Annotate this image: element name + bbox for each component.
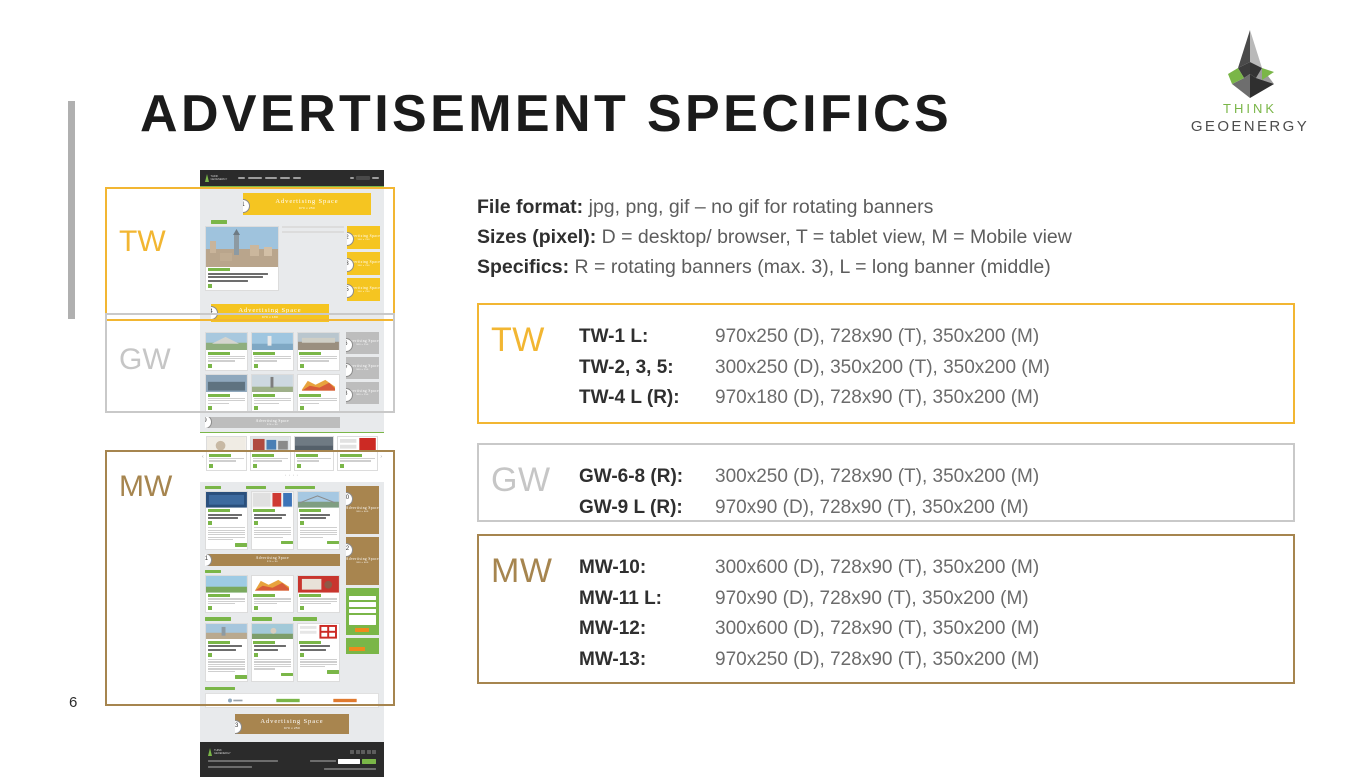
mockup-nav-item[interactable] xyxy=(265,177,277,180)
page-title: ADVERTISEMENT SPECIFICS xyxy=(140,84,952,144)
mockup-gw-grid-row xyxy=(205,332,340,371)
mockup-ad-13[interactable]: 13 Advertising Space 970 x 250 xyxy=(235,714,349,734)
mockup-card-tag xyxy=(208,509,230,512)
mockup-ad-1[interactable]: 1 Advertising Space 970 x 250 xyxy=(243,193,371,215)
mockup-article-thumbnail xyxy=(338,437,377,453)
mockup-signup-name-field[interactable] xyxy=(349,596,376,601)
mockup-ad-11[interactable]: 11 Advertising Space 970 x 90 xyxy=(205,554,340,566)
mockup-article-thumbnail xyxy=(283,227,343,228)
mockup-card-tag xyxy=(208,394,230,397)
mockup-article-card[interactable] xyxy=(251,623,294,682)
mockup-card-line xyxy=(300,603,331,604)
mockup-card-headline xyxy=(208,280,248,282)
mockup-article-thumbnail xyxy=(298,576,339,593)
spec-code: MW-10: xyxy=(579,553,715,584)
mockup-article-thumbnail xyxy=(295,437,334,453)
mockup-tag-tw: TW xyxy=(119,227,166,257)
mockup-article-thumbnail xyxy=(252,492,293,508)
mockup-page: THINK GEOENERGY 1 xyxy=(200,170,384,777)
mockup-card-more[interactable] xyxy=(327,670,339,674)
mockup-signup-heading xyxy=(349,591,376,594)
mockup-card-line xyxy=(300,527,337,528)
mockup-card-badge xyxy=(300,606,304,610)
mockup-card-headline xyxy=(254,517,282,519)
mockup-card-headline xyxy=(300,645,330,647)
mockup-article-card[interactable] xyxy=(205,226,279,291)
spec-box-mw: MW MW-10: 300x600 (D), 728x90 (T), 350x2… xyxy=(477,534,1295,684)
mockup-card-tag xyxy=(299,352,321,355)
mockup-card-line xyxy=(254,398,291,399)
mockup-card-line xyxy=(208,360,235,361)
mockup-nav-item[interactable] xyxy=(293,177,301,180)
youtube-icon[interactable] xyxy=(367,750,371,754)
mockup-card-line xyxy=(208,527,245,528)
mockup-card-line xyxy=(254,527,291,528)
mockup-ad-9[interactable]: 9 Advertising Space 970 x 90 xyxy=(205,417,340,428)
rss-icon[interactable] xyxy=(372,750,376,754)
mockup-ad-size: 300 x 250 xyxy=(356,369,368,371)
mockup-footer-copyright xyxy=(324,768,376,770)
mockup-article-card[interactable] xyxy=(251,491,294,550)
mockup-card-line xyxy=(254,664,291,665)
mockup-card-headline xyxy=(254,514,286,516)
mockup-signup-submit-button[interactable] xyxy=(355,628,369,632)
website-mockup: TW GW MW THINK GEOENERGY xyxy=(105,170,405,755)
mockup-mw-chips xyxy=(205,486,340,490)
mockup-article-card[interactable] xyxy=(205,332,248,371)
spec-row: TW-4 L (R): 970x180 (D), 728x90 (T), 350… xyxy=(579,383,1293,414)
mockup-card-line xyxy=(209,460,236,461)
mockup-card-tag xyxy=(299,641,321,644)
mockup-article-thumbnail xyxy=(298,624,339,640)
spec-code: TW-1 L: xyxy=(579,322,715,353)
spec-code: MW-11 L: xyxy=(579,584,715,615)
mockup-ad-label: Advertising Space xyxy=(260,718,323,725)
mockup-category-chip xyxy=(205,687,235,691)
spec-code: MW-13: xyxy=(579,645,715,676)
legend-label-file-format: File format: xyxy=(477,196,583,218)
mockup-card-line xyxy=(340,458,375,459)
mockup-ad-size: 300 x 250 xyxy=(357,291,369,293)
mockup-footer-logo-text: THINK GEOENERGY xyxy=(214,749,238,755)
mockup-marker-1: 1 xyxy=(243,199,250,213)
mockup-article-thumbnail xyxy=(252,375,293,393)
mockup-zone-tw: 1 Advertising Space 970 x 250 xyxy=(200,188,384,328)
mockup-zone-gw: 9 Advertising Space 970 x 90 6 Advertisi… xyxy=(200,328,384,432)
mockup-card-line xyxy=(300,356,337,357)
mockup-category-chip xyxy=(285,486,315,490)
mockup-category-chip xyxy=(252,617,272,621)
mockup-card-line xyxy=(208,664,245,665)
carousel-prev-icon[interactable]: ‹ xyxy=(202,454,204,460)
mockup-mw-grid-row xyxy=(205,491,340,550)
mockup-article-card[interactable] xyxy=(205,575,248,613)
mockup-nav-logo-text: THINK GEOENERGY xyxy=(211,175,232,181)
mockup-ad-10[interactable]: 10 Advertising Space 300 x 600 xyxy=(346,486,379,534)
mockup-ad-3[interactable]: 3 Advertising Space 300 x 250 xyxy=(347,252,380,275)
spec-rows-mw: MW-10: 300x600 (D), 728x90 (T), 350x200 … xyxy=(579,536,1293,675)
mockup-signup-company-field[interactable] xyxy=(349,609,376,614)
spec-dims: 970x180 (D), 728x90 (T), 350x200 (M) xyxy=(715,383,1039,414)
mockup-card-line xyxy=(300,598,337,599)
mockup-article-thumbnail xyxy=(207,437,246,453)
logo-geoenergy-text: GEOENERGY xyxy=(1180,118,1320,135)
mockup-card-line xyxy=(300,398,337,399)
mockup-gw-grid: 9 Advertising Space 970 x 90 xyxy=(205,332,340,428)
mockup-gw-row: 9 Advertising Space 970 x 90 6 Advertisi… xyxy=(205,332,379,428)
mockup-card-more[interactable] xyxy=(235,675,247,679)
mockup-ad-size: 300 x 250 xyxy=(357,265,369,267)
mockup-category-chip xyxy=(205,486,221,490)
mockup-marker-12: 12 xyxy=(346,543,353,557)
spec-dims: 970x90 (D), 728x90 (T), 350x200 (M) xyxy=(715,584,1029,615)
spec-rows-tw: TW-1 L: 970x250 (D), 728x90 (T), 350x200… xyxy=(579,305,1293,414)
mockup-card-headline xyxy=(254,649,278,651)
spec-code: MW-12: xyxy=(579,614,715,645)
spec-row: MW-11 L: 970x90 (D), 728x90 (T), 350x200… xyxy=(579,584,1293,615)
mockup-footer-arrow-icon xyxy=(208,748,212,756)
mockup-card-headline xyxy=(208,273,268,275)
mockup-article-card[interactable] xyxy=(251,575,294,613)
mockup-card-tag xyxy=(296,454,318,457)
mockup-footer-top-row: THINK GEOENERGY xyxy=(208,747,376,756)
mockup-card-line xyxy=(208,601,245,602)
spec-box-tw: TW TW-1 L: 970x250 (D), 728x90 (T), 350x… xyxy=(477,303,1295,424)
mockup-card-line xyxy=(254,603,277,604)
mockup-article-thumbnail xyxy=(206,492,247,508)
linkedin-icon[interactable] xyxy=(361,750,365,754)
mockup-footer-logo: THINK GEOENERGY xyxy=(208,747,238,756)
mockup-partner-logo xyxy=(274,698,302,703)
mockup-card-tag xyxy=(252,454,274,457)
spec-code: GW-6-8 (R): xyxy=(579,462,715,493)
mockup-ad-8[interactable]: 8 Advertising Space 300 x 250 xyxy=(346,382,379,404)
mockup-article-card[interactable] xyxy=(297,623,340,682)
mockup-ad-size: 300 x 600 xyxy=(356,562,368,564)
mockup-card-stack xyxy=(282,226,344,233)
mockup-card-tag xyxy=(253,509,275,512)
mockup-tw-sidebar: 2 Advertising Space 300 x 250 3 Advertis… xyxy=(347,226,380,301)
mockup-article-card[interactable] xyxy=(297,374,340,413)
mockup-article-thumbnail xyxy=(206,227,278,267)
mockup-carousel-card[interactable] xyxy=(250,436,291,471)
mockup-card-headline xyxy=(208,276,263,278)
mockup-navbar: THINK GEOENERGY xyxy=(200,170,384,186)
mockup-category-chip xyxy=(211,220,227,224)
mockup-card-more[interactable] xyxy=(281,541,293,545)
mockup-card-badge xyxy=(208,653,212,657)
mockup-category-chip xyxy=(293,617,317,621)
mockup-subscribe-button[interactable] xyxy=(362,759,376,764)
mockup-article-thumbnail xyxy=(252,624,293,640)
mockup-card-line xyxy=(253,458,288,459)
mockup-carousel: ‹ › xyxy=(200,432,384,482)
mockup-card-line xyxy=(254,358,291,359)
mockup-card-line xyxy=(300,601,337,602)
mockup-marker-4: 4 xyxy=(211,306,218,320)
mockup-article-card[interactable] xyxy=(205,491,248,550)
mockup-nav-item[interactable] xyxy=(280,177,290,180)
legend-value-file-format: jpg, png, gif – no gif for rotating bann… xyxy=(589,196,934,218)
mockup-nav-lang[interactable] xyxy=(350,177,354,180)
mockup-ad-label: Advertising Space xyxy=(256,419,289,423)
mockup-ad-6[interactable]: 6 Advertising Space 300 x 250 xyxy=(346,332,379,354)
mockup-card-badge xyxy=(254,606,258,610)
mockup-card-tag xyxy=(209,454,231,457)
carousel-next-icon[interactable]: › xyxy=(380,454,382,460)
mockup-tag-mw: MW xyxy=(119,472,172,502)
mockup-ad-4[interactable]: 4 Advertising Space 970 x 180 xyxy=(211,304,329,322)
mockup-card-line xyxy=(208,398,245,399)
mockup-partners-strip xyxy=(205,693,379,708)
mockup-ad-size: 970 x 90 xyxy=(267,424,278,426)
mockup-ad-label: Advertising Space xyxy=(275,198,338,205)
mockup-card-badge xyxy=(208,406,212,410)
mockup-ad-label: Advertising Space xyxy=(238,307,301,314)
mockup-article-card[interactable] xyxy=(282,231,344,233)
mockup-card-more[interactable] xyxy=(327,541,339,545)
mockup-card-badge xyxy=(297,464,301,468)
mockup-card-tag xyxy=(299,509,321,512)
mockup-card-more[interactable] xyxy=(235,543,247,547)
mockup-card-tag xyxy=(253,641,275,644)
mockup-article-card[interactable] xyxy=(205,374,248,413)
mockup-marker-9: 9 xyxy=(205,417,212,428)
mockup-article-thumbnail xyxy=(206,624,247,640)
mockup-mw-grid-row xyxy=(205,575,340,613)
mockup-promo-button[interactable] xyxy=(349,647,365,651)
spec-dims: 300x600 (D), 728x90 (T), 350x200 (M) xyxy=(715,553,1039,584)
mockup-footer-link-row[interactable] xyxy=(208,766,252,768)
mockup-card-badge xyxy=(208,284,212,288)
mockup-card-line xyxy=(208,598,245,599)
mockup-article-card[interactable] xyxy=(282,226,344,228)
mockup-nav-arrow-icon xyxy=(205,174,209,182)
legend-line-file-format: File format: jpg, png, gif – no gif for … xyxy=(477,192,1307,222)
mockup-card-line xyxy=(254,666,291,667)
mockup-card-tag xyxy=(253,394,275,397)
mockup-footer-bottom-row xyxy=(208,756,376,770)
mockup-card-line xyxy=(300,537,323,538)
mockup-card-line xyxy=(254,598,291,599)
mockup-card-line xyxy=(300,400,337,401)
mockup-card-badge xyxy=(253,464,257,468)
mockup-card-tag xyxy=(208,352,230,355)
mockup-card-line xyxy=(254,360,277,361)
mockup-carousel-card[interactable] xyxy=(337,436,378,471)
mockup-ad-label: Advertising Space xyxy=(346,506,379,510)
spec-dims: 970x250 (D), 728x90 (T), 350x200 (M) xyxy=(715,645,1039,676)
spec-dims: 300x600 (D), 728x90 (T), 350x200 (M) xyxy=(715,614,1039,645)
mockup-subscribe-email-input[interactable] xyxy=(338,759,360,764)
mockup-card-headline xyxy=(208,517,238,519)
mockup-card-badge xyxy=(208,364,212,368)
mockup-card-headline xyxy=(300,517,326,519)
mockup-promo-block[interactable] xyxy=(346,638,379,653)
mockup-card-line xyxy=(300,666,325,667)
spec-tag-gw: GW xyxy=(479,445,579,497)
mockup-card-headline xyxy=(208,649,236,651)
thinkgeoenergy-arrow-mark xyxy=(1210,28,1290,100)
legend-label-specifics: Specifics: xyxy=(477,256,569,278)
mockup-article-card[interactable] xyxy=(297,332,340,371)
spec-row: GW-9 L (R): 970x90 (D), 728x90 (T), 350x… xyxy=(579,493,1293,524)
mockup-ad-7[interactable]: 7 Advertising Space 300 x 250 xyxy=(346,357,379,379)
left-accent-rule xyxy=(68,101,75,319)
mockup-mw-grid-row xyxy=(205,623,340,682)
mockup-card-line xyxy=(208,661,245,662)
spec-row: GW-6-8 (R): 300x250 (D), 728x90 (T), 350… xyxy=(579,462,1293,493)
legend-value-sizes: D = desktop/ browser, T = tablet view, M… xyxy=(602,226,1072,248)
mockup-card-headline xyxy=(208,514,242,516)
mockup-card-tag xyxy=(208,641,230,644)
mockup-chart-thumbnail xyxy=(298,375,339,393)
mockup-footer: THINK GEOENERGY xyxy=(200,742,384,777)
spec-code: TW-4 L (R): xyxy=(579,383,715,414)
mockup-card-badge xyxy=(209,464,213,468)
mockup-card-line xyxy=(208,530,245,531)
mockup-signup-message-field[interactable] xyxy=(349,615,376,625)
mockup-card-badge xyxy=(340,464,344,468)
spec-row: TW-2, 3, 5: 300x250 (D), 350x200 (T), 35… xyxy=(579,353,1293,384)
spec-dims: 970x90 (D), 728x90 (T), 350x200 (M) xyxy=(715,493,1029,524)
mockup-article-card[interactable] xyxy=(251,332,294,371)
mockup-card-tag xyxy=(299,394,321,397)
mockup-ad-2[interactable]: 2 Advertising Space 300 x 250 xyxy=(347,226,380,249)
mockup-card-line xyxy=(254,537,283,538)
spec-rows-gw: GW-6-8 (R): 300x250 (D), 728x90 (T), 350… xyxy=(579,445,1293,523)
mockup-card-headline xyxy=(254,645,286,647)
spec-row: MW-10: 300x600 (D), 728x90 (T), 350x200 … xyxy=(579,553,1293,584)
mockup-ad-size: 970 x 250 xyxy=(299,206,315,210)
spec-box-gw: GW GW-6-8 (R): 300x250 (D), 728x90 (T), … xyxy=(477,443,1295,522)
mockup-nav-item[interactable] xyxy=(248,177,262,180)
mockup-article-card[interactable] xyxy=(297,575,340,613)
mockup-card-line xyxy=(208,532,245,533)
mockup-article-card[interactable] xyxy=(297,491,340,550)
mockup-card-line xyxy=(300,664,337,665)
mockup-search-box[interactable] xyxy=(356,176,370,180)
mockup-ad-size: 300 x 250 xyxy=(356,394,368,396)
mockup-card-line xyxy=(208,356,245,357)
mockup-card-badge xyxy=(300,364,304,368)
mockup-card-more[interactable] xyxy=(281,673,293,677)
mockup-card-headline xyxy=(300,649,326,651)
mockup-ad-5[interactable]: 5 Advertising Space 300 x 250 xyxy=(347,278,380,301)
mockup-article-thumbnail xyxy=(252,333,293,351)
mockup-card-badge xyxy=(254,364,258,368)
mockup-article-card[interactable] xyxy=(251,374,294,413)
mockup-carousel-card[interactable] xyxy=(294,436,335,471)
mockup-card-line xyxy=(254,661,291,662)
mockup-card-headline xyxy=(300,514,330,516)
mockup-marker-10: 10 xyxy=(346,492,353,506)
mockup-card-line xyxy=(297,460,320,461)
mockup-card-line xyxy=(254,668,275,669)
mockup-card-tag xyxy=(340,454,362,457)
mockup-card-line xyxy=(208,400,245,401)
mockup-card-line xyxy=(208,603,235,604)
mockup-card-line xyxy=(208,659,245,660)
mockup-nav-item[interactable] xyxy=(238,177,245,180)
spec-row: MW-12: 300x600 (D), 728x90 (T), 350x200 … xyxy=(579,614,1293,645)
spec-code: GW-9 L (R): xyxy=(579,493,715,524)
mockup-article-thumbnail xyxy=(206,333,247,351)
mockup-article-card[interactable] xyxy=(205,623,248,682)
mockup-card-line xyxy=(254,356,291,357)
spec-dims: 970x250 (D), 728x90 (T), 350x200 (M) xyxy=(715,322,1039,353)
twitter-icon[interactable] xyxy=(356,750,360,754)
spec-dims: 300x250 (D), 350x200 (T), 350x200 (M) xyxy=(715,353,1050,384)
mockup-promo-heading xyxy=(349,641,376,644)
spec-row: MW-13: 970x250 (D), 728x90 (T), 350x200 … xyxy=(579,645,1293,676)
mockup-signup-email-field[interactable] xyxy=(349,602,376,607)
carousel-dots[interactable]: • • • • xyxy=(206,473,378,477)
slide-canvas: 6 ADVERTISEMENT SPECIFICS THINK GEOENERG… xyxy=(0,0,1356,761)
mockup-card-badge xyxy=(300,406,304,410)
legend-block: File format: jpg, png, gif – no gif for … xyxy=(477,192,1307,282)
mockup-card-line xyxy=(300,358,337,359)
mockup-ad-size: 970 x 250 xyxy=(284,726,300,730)
mockup-card-tag xyxy=(253,594,275,597)
mockup-category-chip xyxy=(246,486,266,490)
mockup-carousel-row xyxy=(206,436,378,471)
mockup-ad-size: 300 x 250 xyxy=(357,239,369,241)
mockup-gw-sidebar: 6 Advertising Space 300 x 250 7 Advertis… xyxy=(346,332,379,404)
mockup-nav-right xyxy=(350,176,379,180)
mockup-card-line xyxy=(208,403,229,404)
mockup-card-tag xyxy=(299,594,321,597)
mockup-card-badge xyxy=(300,521,304,525)
mockup-card-badge xyxy=(300,653,304,657)
spec-tag-mw: MW xyxy=(479,536,579,588)
mockup-card-line xyxy=(297,458,332,459)
mockup-ad-12[interactable]: 12 Advertising Space 300 x 600 xyxy=(346,537,379,585)
mockup-zone-mw: 11 Advertising Space 970 x 90 xyxy=(200,482,384,738)
mockup-footer-link-row[interactable] xyxy=(208,760,278,762)
mockup-ad-size: 300 x 250 xyxy=(356,344,368,346)
mockup-newsletter-signup xyxy=(346,588,379,636)
mockup-card-line xyxy=(254,534,291,535)
legend-label-sizes: Sizes (pixel): xyxy=(477,226,596,248)
legend-line-sizes: Sizes (pixel): D = desktop/ browser, T =… xyxy=(477,222,1307,252)
mockup-card-tag xyxy=(208,268,230,271)
mockup-card-badge xyxy=(208,606,212,610)
mockup-tag-gw: GW xyxy=(119,345,171,375)
mockup-card-tag xyxy=(208,594,230,597)
mockup-card-line xyxy=(300,530,337,531)
mockup-card-line xyxy=(300,659,337,660)
mockup-card-badge xyxy=(254,521,258,525)
mockup-mw-chips xyxy=(205,617,340,621)
mockup-card-line xyxy=(300,661,337,662)
mockup-card-tag xyxy=(253,352,275,355)
mockup-carousel-card[interactable] xyxy=(206,436,247,471)
mockup-card-line xyxy=(208,358,245,359)
mockup-mw-main: 11 Advertising Space 970 x 90 xyxy=(205,486,340,682)
mockup-nav-item[interactable] xyxy=(372,177,379,180)
mockup-article-thumbnail xyxy=(206,576,247,593)
facebook-icon[interactable] xyxy=(350,750,354,754)
mockup-card-badge xyxy=(208,521,212,525)
mockup-article-thumbnail xyxy=(206,375,247,393)
mockup-ad-label: Advertising Space xyxy=(346,557,379,561)
mockup-card-headline xyxy=(208,645,242,647)
mockup-card-line xyxy=(209,458,244,459)
spec-row: TW-1 L: 970x250 (D), 728x90 (T), 350x200… xyxy=(579,322,1293,353)
mockup-social-icons xyxy=(350,750,376,754)
mockup-card-line xyxy=(208,537,245,538)
